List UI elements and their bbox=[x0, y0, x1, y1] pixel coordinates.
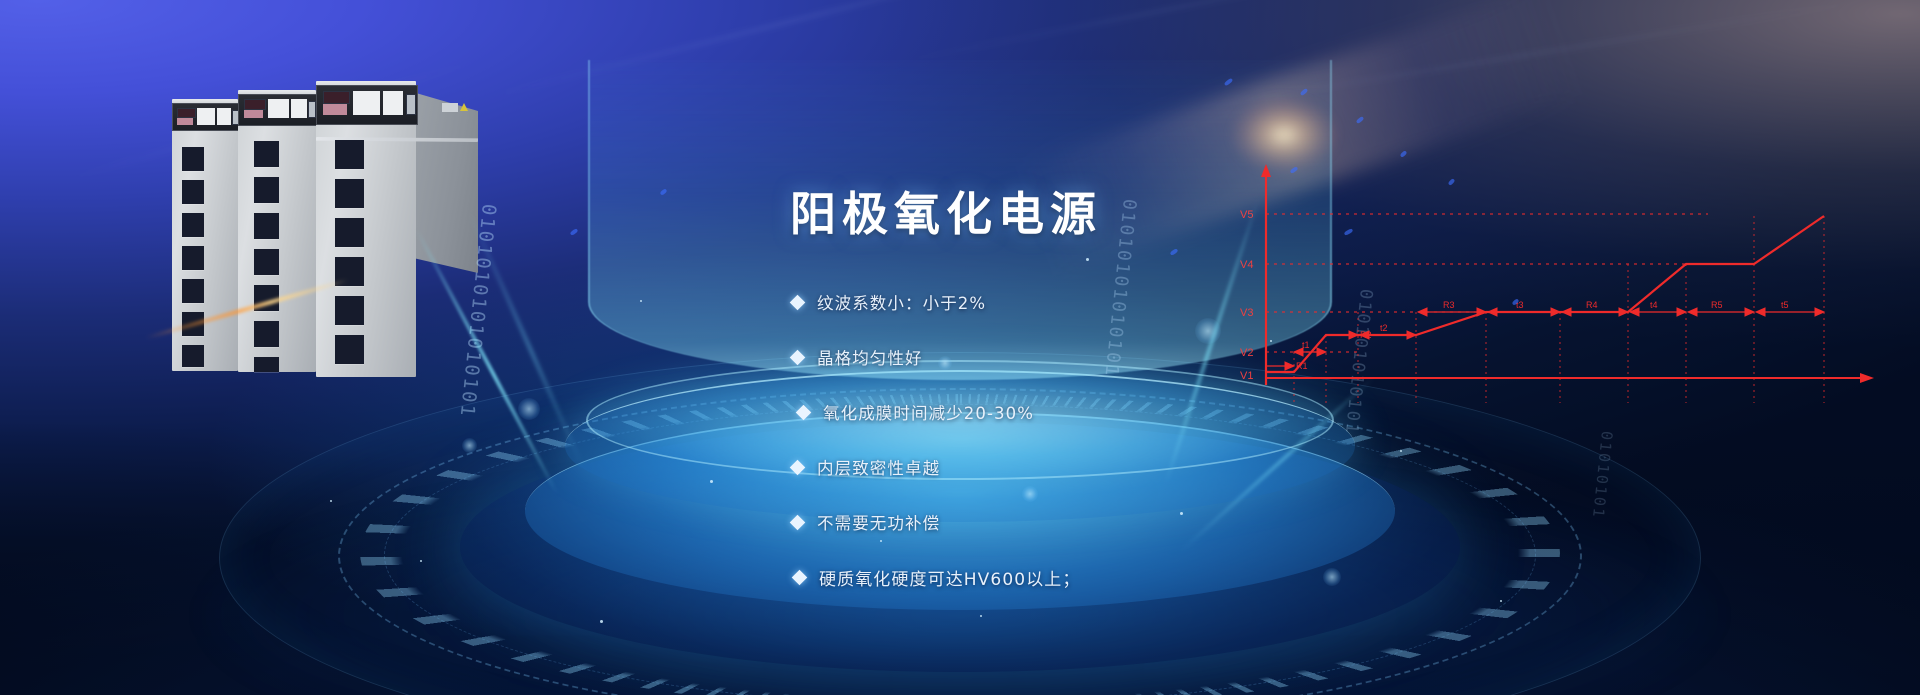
cabinet-vent bbox=[182, 147, 204, 171]
cabinet-front-display bbox=[323, 91, 350, 104]
cabinet-vent bbox=[182, 279, 204, 303]
cabinet-vent bbox=[254, 357, 279, 372]
feature-bullet-list: 纹波系数小：小于2% 晶格均匀性好 氧化成膜时间减少20-30% 内层致密性卓越… bbox=[792, 290, 1312, 621]
cabinet-back-label bbox=[217, 108, 231, 125]
chart-y-axis-arrow bbox=[1261, 164, 1271, 177]
cabinet-front bbox=[316, 85, 416, 377]
cabinet-back-display bbox=[177, 108, 196, 118]
chart-annot-t5: t5 bbox=[1781, 300, 1789, 310]
cabinet-vent bbox=[335, 140, 364, 169]
list-item: 纹波系数小：小于2% bbox=[792, 290, 1312, 314]
list-item-label: 纹波系数小：小于2% bbox=[817, 290, 986, 314]
cabinet-vent bbox=[182, 180, 204, 204]
chart-svg: V5 V4 V3 V2 V1 R1 t1 R2 bbox=[1238, 160, 1878, 490]
banner-stage: 0101010101010101 01010101010101 01010101… bbox=[0, 0, 1920, 695]
cabinet-vent bbox=[335, 218, 364, 247]
voltage-staircase-chart: V5 V4 V3 V2 V1 R1 t1 R2 bbox=[1238, 160, 1878, 490]
cabinet-middle-keypad-icon bbox=[244, 110, 263, 118]
sparkle-particle bbox=[1500, 600, 1502, 602]
cabinet-front-label bbox=[383, 91, 403, 115]
diamond-bullet-icon bbox=[790, 349, 806, 365]
cabinet-middle-label bbox=[268, 99, 289, 118]
cabinet-vent bbox=[254, 177, 279, 203]
list-item-label: 内层致密性卓越 bbox=[817, 455, 940, 479]
list-item: 硬质氧化硬度可达HV600以上； bbox=[794, 565, 1312, 590]
chart-y-tick: V4 bbox=[1240, 259, 1253, 271]
cabinet-front-keypad-icon bbox=[323, 104, 347, 115]
list-item-label: 不需要无功补偿 bbox=[817, 510, 940, 534]
cabinet-vent bbox=[254, 141, 279, 167]
cabinet-vent bbox=[335, 179, 364, 208]
cabinet-vent bbox=[254, 249, 279, 275]
cabinet-vent bbox=[182, 246, 204, 270]
chart-segment-annotations: R1 t1 R2 t2 R3 bbox=[1266, 300, 1824, 371]
page-title: 阳极氧化电源 bbox=[790, 178, 1102, 244]
cabinet-vent bbox=[182, 213, 204, 237]
diamond-bullet-icon bbox=[790, 514, 806, 530]
sparkle-particle bbox=[600, 620, 603, 623]
bokeh-particle bbox=[1323, 568, 1341, 586]
sparkle-particle bbox=[1400, 450, 1402, 452]
power-supply-cabinets-image bbox=[172, 85, 492, 385]
sparkle-particle bbox=[710, 480, 713, 483]
cabinet-middle-label bbox=[291, 99, 307, 118]
cabinet-front-label bbox=[353, 91, 380, 115]
cabinet-vent bbox=[182, 345, 204, 367]
cabinet-vent bbox=[335, 335, 364, 364]
cabinet-back-label bbox=[197, 108, 215, 125]
list-item: 氧化成膜时间减少20-30% bbox=[798, 400, 1312, 424]
chart-annot-t2: t2 bbox=[1380, 323, 1388, 333]
cabinet-front-meter bbox=[406, 94, 416, 115]
sparkle-particle bbox=[640, 300, 642, 302]
chart-annot-r3: R3 bbox=[1443, 300, 1455, 310]
list-item: 晶格均匀性好 bbox=[792, 345, 1312, 369]
chart-waveform-line bbox=[1266, 216, 1824, 372]
cabinet-middle-meter bbox=[308, 101, 316, 118]
sparkle-particle bbox=[420, 560, 422, 562]
bokeh-particle bbox=[518, 398, 540, 420]
diamond-bullet-icon bbox=[796, 404, 812, 420]
list-item-label: 硬质氧化硬度可达HV600以上； bbox=[819, 565, 1080, 590]
chart-annot-t4: t4 bbox=[1650, 300, 1658, 310]
cabinet-back-keypad-icon bbox=[177, 118, 193, 125]
sparkle-particle bbox=[330, 500, 332, 502]
bokeh-particle bbox=[462, 438, 477, 453]
chart-annot-r5: R5 bbox=[1711, 300, 1723, 310]
list-item-label: 晶格均匀性好 bbox=[817, 345, 923, 369]
sparkle-particle bbox=[1086, 258, 1089, 261]
chart-x-axis-arrow bbox=[1860, 373, 1874, 383]
warning-label-icon bbox=[442, 103, 458, 112]
diamond-bullet-icon bbox=[792, 570, 808, 586]
cabinet-vent bbox=[254, 213, 279, 239]
cabinet-vent bbox=[335, 296, 364, 325]
chart-annot-r4: R4 bbox=[1586, 300, 1598, 310]
list-item: 不需要无功补偿 bbox=[792, 510, 1312, 534]
list-item: 内层致密性卓越 bbox=[792, 455, 1312, 479]
diamond-bullet-icon bbox=[790, 294, 806, 310]
list-item-label: 氧化成膜时间减少20-30% bbox=[823, 400, 1034, 424]
diamond-bullet-icon bbox=[790, 459, 806, 475]
cabinet-middle-display bbox=[244, 99, 266, 110]
cabinet-vent bbox=[254, 321, 279, 347]
